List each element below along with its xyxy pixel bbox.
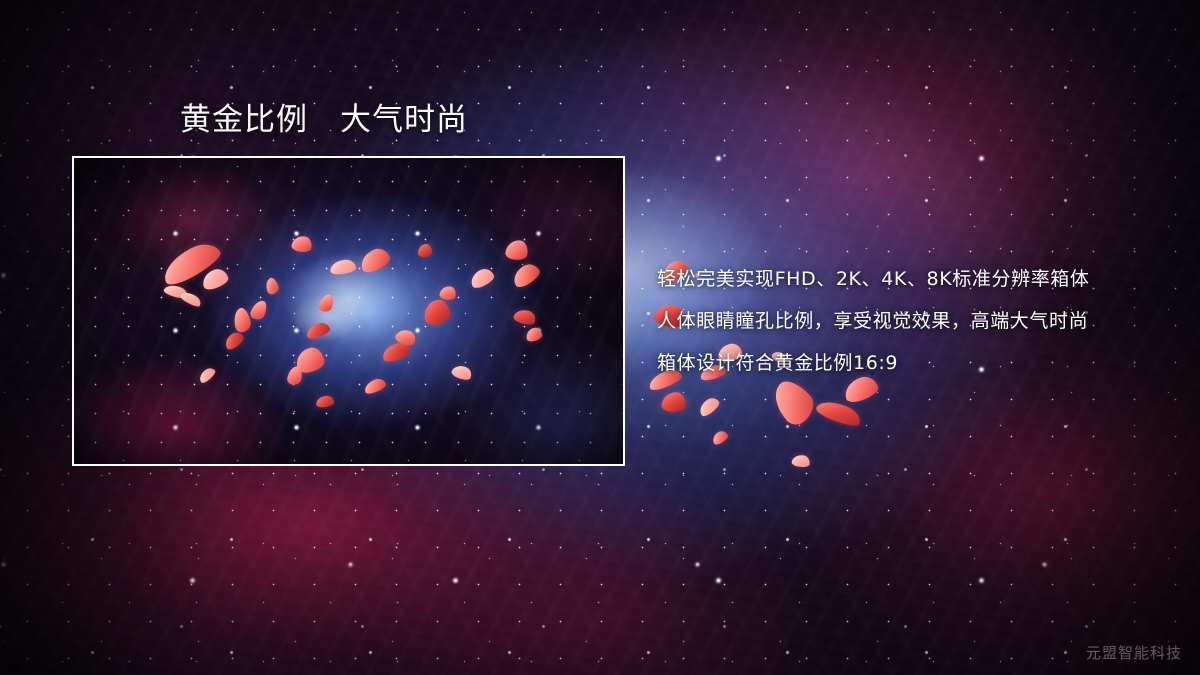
petal-icon (158, 237, 225, 289)
petal-icon (286, 365, 304, 386)
description-line: 人体眼睛瞳孔比例，享受视觉效果，高端大气时尚 (657, 300, 1177, 342)
petal-icon (200, 266, 230, 291)
inner-star-field-small (74, 158, 623, 464)
petal-icon (232, 307, 253, 334)
description-line: 箱体设计符合黄金比例16:9 (657, 342, 1177, 384)
petal-icon (329, 259, 356, 276)
petal-icon (318, 292, 336, 313)
inner-nebula-background (74, 158, 623, 464)
petal-icon (357, 245, 392, 275)
petal-icon (222, 330, 246, 352)
petal-icon (418, 244, 432, 257)
petal-icon (294, 346, 326, 374)
petal-icon (791, 454, 811, 469)
petal-icon (504, 238, 529, 262)
petal-icon (380, 340, 411, 363)
petal-icon (163, 283, 189, 301)
description-line: 轻松完美实现FHD、2K、4K、8K标准分辨率箱体 (657, 258, 1177, 300)
petal-icon (394, 326, 419, 348)
petal-icon (450, 363, 473, 383)
petal-icon (315, 395, 334, 408)
petal-icon (363, 377, 388, 396)
petal-icon (179, 289, 203, 309)
petal-icon (710, 429, 729, 446)
petal-icon (525, 326, 543, 342)
petal-icon (468, 266, 496, 290)
petal-icon (661, 391, 687, 413)
framed-product-image (72, 156, 625, 466)
petal-icon (197, 366, 217, 385)
petal-icon (512, 307, 537, 327)
petal-icon (264, 277, 280, 296)
inner-vignette-overlay (74, 158, 623, 464)
petal-icon (422, 298, 451, 325)
presentation-slide: 黄金比例 大气时尚 轻松完美实现FHD、2K、4K、8K标准分辨率箱体 人体眼睛… (0, 0, 1200, 675)
petal-icon (291, 234, 314, 254)
petal-icon (509, 260, 542, 290)
petal-icon (696, 395, 721, 418)
feature-description: 轻松完美实现FHD、2K、4K、8K标准分辨率箱体 人体眼睛瞳孔比例，享受视觉效… (657, 258, 1177, 384)
watermark: 元盟智能科技 (1086, 642, 1182, 663)
petal-icon (814, 396, 863, 430)
petal-icon (305, 321, 332, 341)
page-title: 黄金比例 大气时尚 (180, 101, 468, 140)
petal-icon (249, 298, 269, 322)
inner-star-field-large (74, 158, 623, 464)
inner-nebula-filaments (74, 158, 623, 464)
petal-icon (439, 284, 458, 301)
inner-nebula-core (74, 158, 623, 464)
